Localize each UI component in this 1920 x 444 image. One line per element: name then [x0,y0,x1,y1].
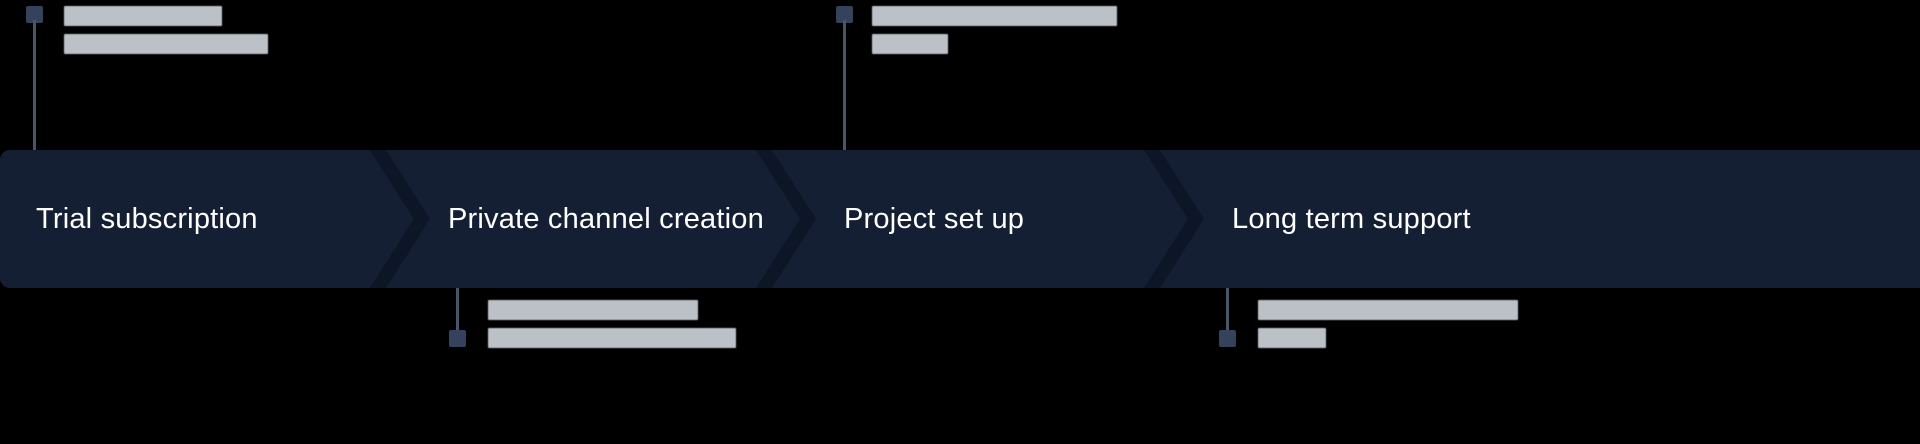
annotation-connector-3 [843,20,846,152]
annotation-4-line-1 [1258,300,1518,320]
process-step-4-label: Long term support [1232,203,1471,236]
process-step-4[interactable]: Long term support [1144,150,1920,288]
annotation-connector-1 [33,20,36,152]
process-flow: Trial subscription Private channel creat… [0,150,1920,288]
process-step-2[interactable]: Private channel creation [370,150,808,288]
process-step-3[interactable]: Project set up [756,150,1190,288]
annotation-1-line-1 [64,6,222,26]
annotation-connector-2 [456,288,459,334]
annotation-connector-4 [1226,288,1229,334]
annotation-2-line-2 [488,328,736,348]
process-step-2-label: Private channel creation [448,203,764,236]
annotation-3-line-2 [872,34,948,54]
annotation-1 [64,6,268,54]
diagram-canvas: Trial subscription Private channel creat… [0,0,1920,444]
process-step-1-label: Trial subscription [36,203,258,236]
annotation-1-line-2 [64,34,268,54]
process-step-3-label: Project set up [844,203,1024,236]
annotation-4-line-2 [1258,328,1326,348]
annotation-3-line-1 [872,6,1117,26]
annotation-marker-2 [449,330,466,347]
annotation-marker-4 [1219,330,1236,347]
annotation-4 [1258,300,1518,348]
annotation-2-line-1 [488,300,698,320]
process-step-1[interactable]: Trial subscription [0,150,414,288]
annotation-2 [488,300,736,348]
annotation-3 [872,6,1117,54]
